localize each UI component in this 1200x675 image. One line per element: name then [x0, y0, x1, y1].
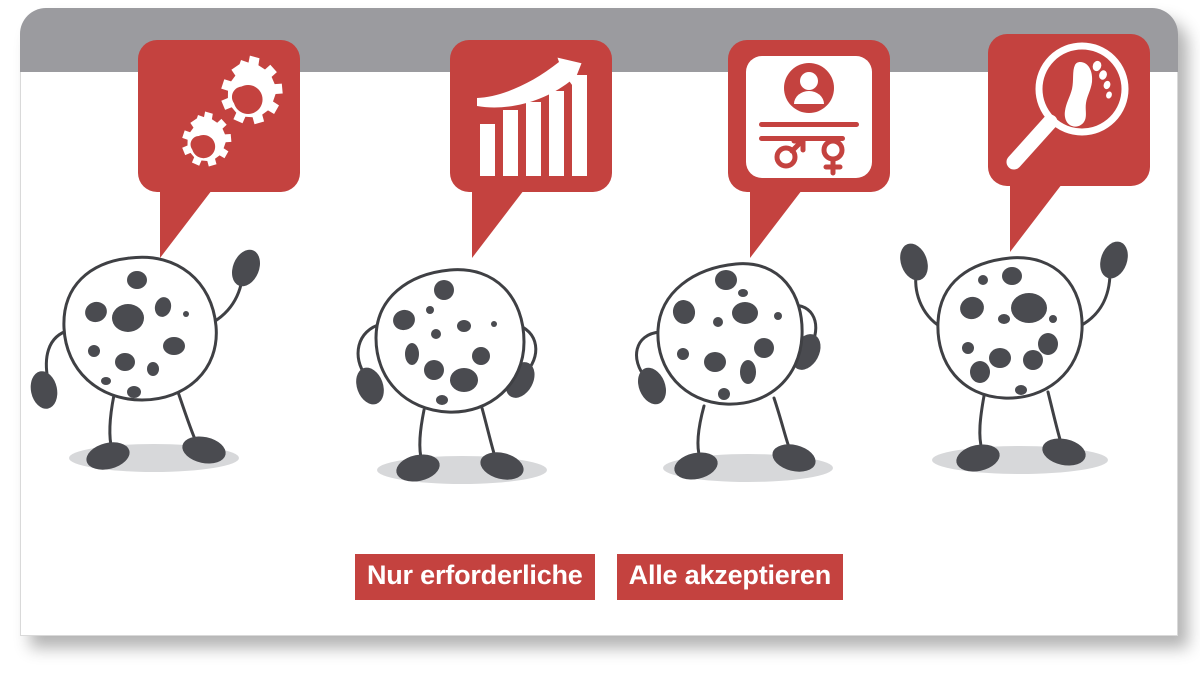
bubble-tail	[472, 190, 524, 258]
illustration-canvas: Nur erforderliche Alle akzeptieren	[0, 0, 1200, 675]
growth-chart-icon	[450, 40, 612, 192]
speech-bubble-profile-card	[728, 40, 890, 192]
speech-bubble-footprint-magnifier	[988, 34, 1150, 186]
browser-window-card: Nur erforderliche Alle akzeptieren	[20, 8, 1178, 636]
speech-bubble-gears	[138, 40, 300, 192]
cookie-character-1	[26, 240, 286, 490]
gears-icon	[138, 40, 300, 192]
footprint-magnifier-icon	[988, 34, 1150, 186]
necessary-only-button[interactable]: Nur erforderliche	[355, 554, 595, 600]
bubble-tail	[750, 190, 802, 258]
cookie-banner-buttons: Nur erforderliche Alle akzeptieren	[20, 554, 1178, 600]
cookie-character-3	[626, 250, 866, 498]
accept-all-button[interactable]: Alle akzeptieren	[617, 554, 843, 600]
cookie-character-2	[342, 258, 582, 498]
cookie-character-4	[892, 238, 1144, 490]
profile-card-icon	[728, 40, 890, 192]
speech-bubble-growth-chart	[450, 40, 612, 192]
